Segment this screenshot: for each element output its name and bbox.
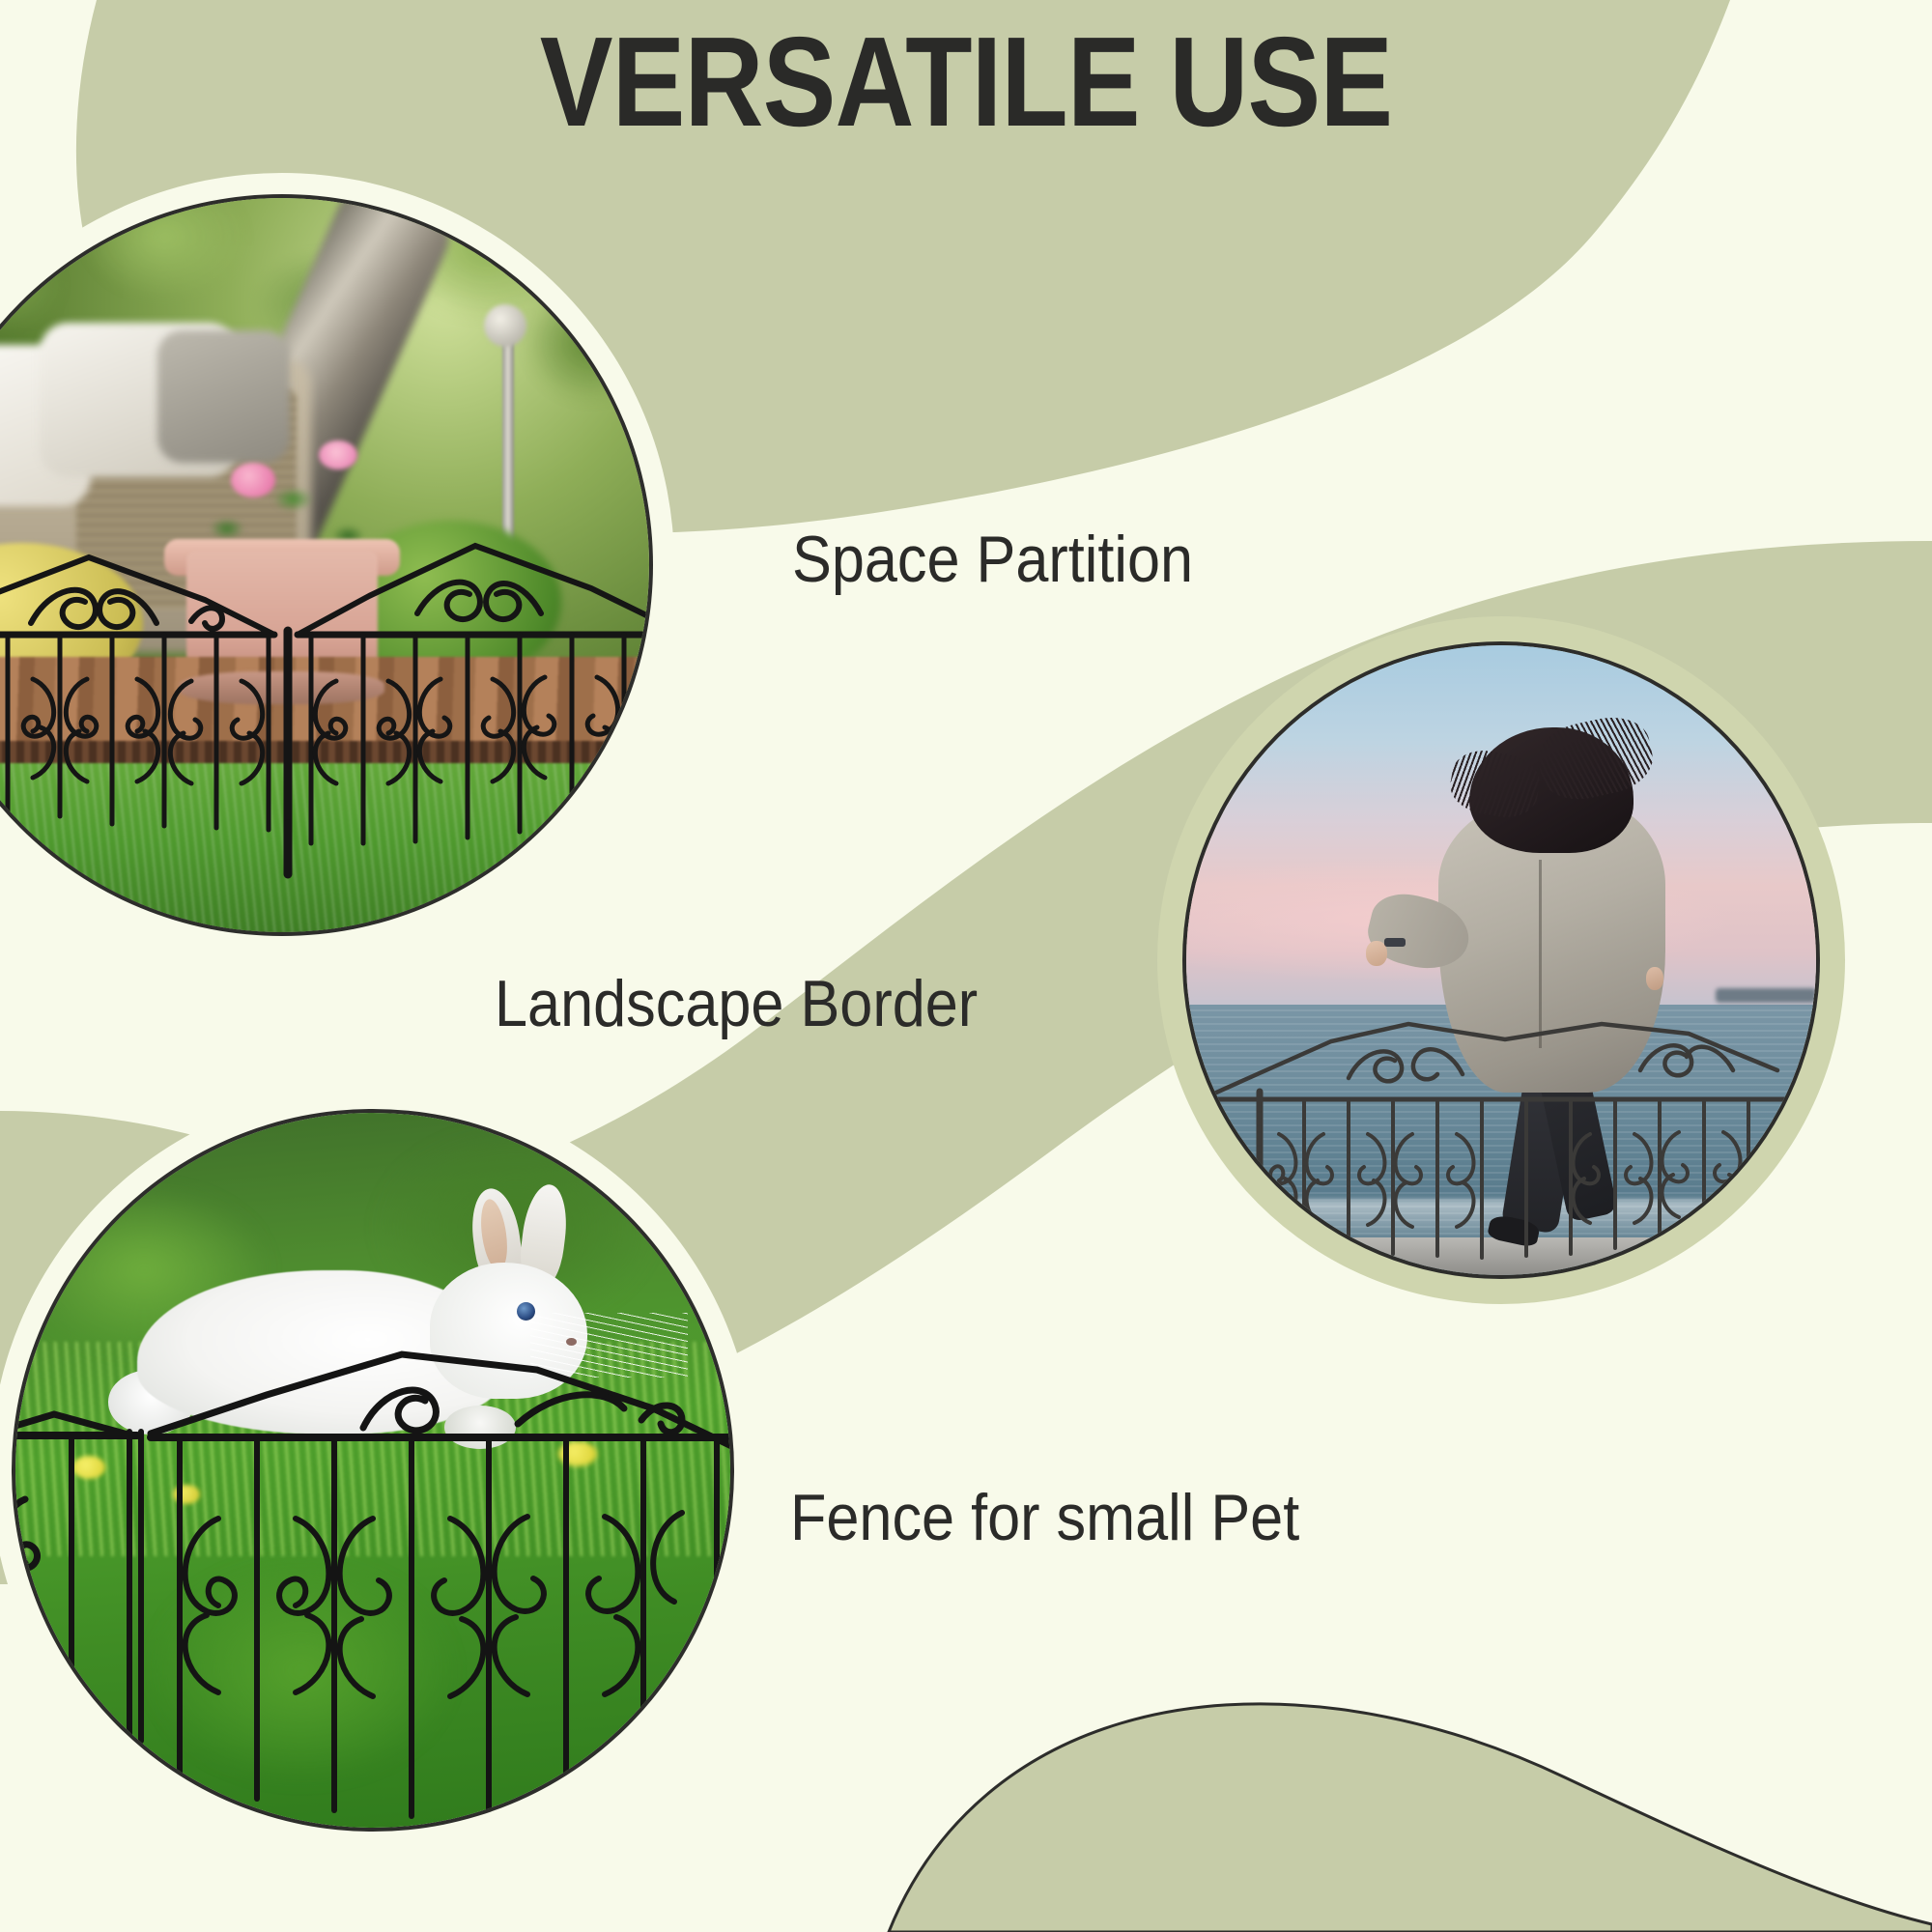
- garden-lamp-head: [484, 304, 526, 347]
- feature-label-fence-small-pet: Fence for small Pet: [790, 1480, 1299, 1555]
- infographic-canvas: VERSATILE USE: [0, 0, 1932, 1932]
- feature-label-space-partition: Space Partition: [792, 522, 1193, 597]
- seaside-scene: [1186, 645, 1816, 1275]
- rabbit-foot: [444, 1406, 516, 1448]
- rabbit-whiskers: [530, 1313, 688, 1378]
- lawn-grass: [0, 763, 649, 932]
- rabbit-nose: [566, 1338, 577, 1346]
- seaside-walk-fence-photo: [1186, 645, 1816, 1275]
- dandelion-two: [173, 1485, 200, 1504]
- right-hand: [1646, 967, 1663, 990]
- promenade-path: [1186, 1237, 1816, 1275]
- pot-saucer: [180, 671, 385, 704]
- white-rabbit-fence-photo: [15, 1113, 730, 1828]
- pink-flower-two: [319, 440, 357, 469]
- page-title: VERSATILE USE: [135, 17, 1797, 148]
- rabbit-scene: [15, 1113, 730, 1828]
- patio-scene: [0, 198, 649, 932]
- distant-headland: [1716, 988, 1816, 1002]
- feature-label-landscape-border: Landscape Border: [495, 966, 978, 1041]
- coat-seam: [1539, 860, 1542, 1049]
- patio-garden-fence-photo: [0, 198, 649, 932]
- wrist-watch: [1384, 938, 1406, 947]
- pink-flower-one: [231, 463, 275, 497]
